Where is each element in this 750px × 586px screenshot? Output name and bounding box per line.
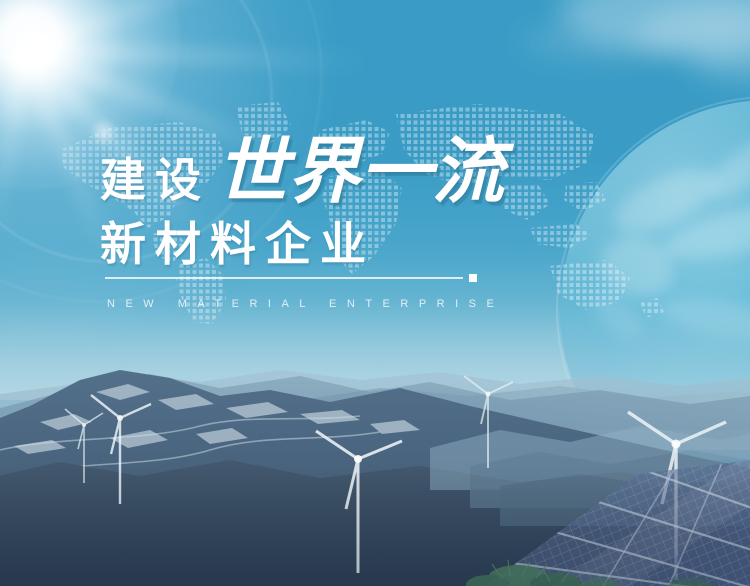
hero-banner: 建设 世界一流 新材料企业 NEW MATERIAL ENTERPRISE	[0, 0, 750, 586]
headline-line-2: 新材料企业	[100, 220, 660, 268]
headline-accent-text: 世界一流	[216, 136, 504, 208]
divider	[105, 274, 477, 282]
mountain-landscape	[0, 330, 750, 586]
divider-end-square	[469, 274, 477, 282]
headline-block: 建设 世界一流 新材料企业	[100, 136, 660, 268]
headline-plain-text: 建设	[100, 157, 210, 203]
subtitle: NEW MATERIAL ENTERPRISE	[107, 298, 504, 310]
divider-line	[105, 277, 463, 279]
headline-line-1: 建设 世界一流	[100, 136, 660, 214]
